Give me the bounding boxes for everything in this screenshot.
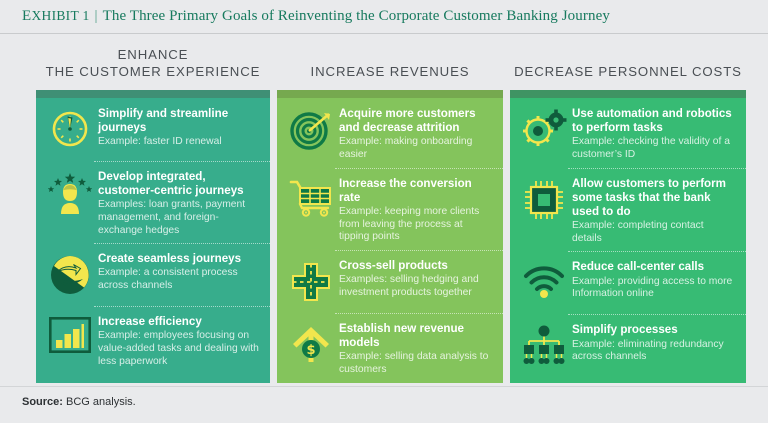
microchip-icon	[520, 176, 568, 225]
list-item-heading: Reduce call-center calls	[572, 260, 736, 274]
page-title-text: The Three Primary Goals of Reinventing t…	[103, 8, 610, 24]
list-item-example: Examples: selling hedging and investment…	[339, 274, 493, 299]
list-item-heading: Cross-sell products	[339, 259, 493, 273]
list-item-text: Allow customers to perform some tasks th…	[568, 176, 736, 246]
column-headers: ENHANCE THE CUSTOMER EXPERIENCE INCREASE…	[0, 44, 768, 88]
svg-text:$: $	[306, 343, 315, 358]
page-title: EXHIBIT 1|The Three Primary Goals of Rei…	[22, 8, 610, 25]
column-enhance-customer-experience: Simplify and streamline journeys Example…	[36, 90, 270, 383]
column-1-body: Simplify and streamline journeys Example…	[36, 98, 270, 374]
list-item-heading: Establish new revenue models	[339, 322, 493, 350]
list-item-heading: Allow customers to perform some tasks th…	[572, 177, 736, 220]
list-item[interactable]: Increase the conversion rate Example: ke…	[277, 168, 503, 250]
column-3-body: Use automation and robotics to perform t…	[510, 98, 746, 377]
clock-icon	[46, 106, 94, 155]
source-label: Source:	[22, 396, 63, 408]
list-item-heading: Acquire more customers and decrease attr…	[339, 107, 493, 135]
list-item-heading: Simplify and streamline journeys	[98, 107, 260, 135]
column-2-body: Acquire more customers and decrease attr…	[277, 98, 503, 382]
list-item-example: Example: selling data analysis to custom…	[339, 351, 493, 376]
list-item[interactable]: Allow customers to perform some tasks th…	[510, 168, 746, 252]
list-item[interactable]: Simplify and streamline journeys Example…	[36, 98, 270, 161]
list-item-heading: Increase the conversion rate	[339, 177, 493, 205]
item-separator	[568, 168, 746, 169]
list-item[interactable]: $ Establish new revenue models Example: …	[277, 313, 503, 383]
column-header-1: ENHANCE THE CUSTOMER EXPERIENCE	[36, 46, 270, 80]
title-separator: |	[90, 8, 103, 24]
list-item-heading: Use automation and robotics to perform t…	[572, 107, 736, 135]
column-3-top-bar	[510, 90, 746, 98]
list-item[interactable]: Develop integrated, customer-centric jou…	[36, 161, 270, 243]
list-item-example: Example: making onboarding easier	[339, 136, 493, 161]
list-item-example: Example: eliminating redundancy across c…	[572, 339, 736, 364]
column-header-2: INCREASE REVENUES	[277, 63, 503, 80]
person-stars-icon	[46, 169, 94, 218]
item-separator	[335, 250, 503, 251]
list-item-heading: Increase efficiency	[98, 315, 260, 329]
list-item-text: Acquire more customers and decrease attr…	[335, 106, 493, 162]
list-item-example: Example: completing contact details	[572, 220, 736, 245]
list-item[interactable]: Use automation and robotics to perform t…	[510, 98, 746, 168]
list-item[interactable]: Reduce call-center calls Example: provid…	[510, 251, 746, 314]
list-item-text: Establish new revenue models Example: se…	[335, 321, 493, 377]
list-item-example: Example: checking the validity of a cust…	[572, 136, 736, 161]
item-separator	[568, 251, 746, 252]
column-increase-revenues: Acquire more customers and decrease attr…	[277, 90, 503, 383]
list-item-heading: Develop integrated, customer-centric jou…	[98, 170, 260, 198]
wifi-signal-icon	[520, 259, 568, 308]
column-header-3: DECREASE PERSONNEL COSTS	[510, 63, 746, 80]
column-1-top-bar	[36, 90, 270, 98]
item-separator	[568, 314, 746, 315]
org-tree-icon	[520, 322, 568, 371]
footer-divider	[0, 386, 768, 387]
list-item-text: Increase efficiency Example: employees f…	[94, 314, 260, 368]
list-item[interactable]: Increase efficiency Example: employees f…	[36, 306, 270, 374]
column-2-top-bar	[277, 90, 503, 98]
list-item-text: Create seamless journeys Example: a cons…	[94, 251, 260, 292]
list-item[interactable]: Simplify processes Example: eliminating …	[510, 314, 746, 377]
column-decrease-personnel-costs: Use automation and robotics to perform t…	[510, 90, 746, 383]
list-item-text: Develop integrated, customer-centric jou…	[94, 169, 260, 237]
source-text: BCG analysis.	[66, 396, 136, 408]
list-item-text: Use automation and robotics to perform t…	[568, 106, 736, 162]
up-arrow-dollar-icon: $	[287, 321, 335, 370]
list-item-example: Example: a consistent process across cha…	[98, 267, 260, 292]
list-item-example: Example: providing access to more Inform…	[572, 276, 736, 301]
exhibit-label: EXHIBIT 1	[22, 8, 90, 23]
source-note: Source: BCG analysis.	[22, 396, 136, 408]
column-header-2-line2: INCREASE REVENUES	[277, 63, 503, 80]
list-item-example: Examples: loan grants, payment managemen…	[98, 199, 260, 237]
column-header-3-line2: DECREASE PERSONNEL COSTS	[510, 63, 746, 80]
list-item-text: Reduce call-center calls Example: provid…	[568, 259, 736, 300]
item-separator	[94, 306, 270, 307]
item-separator	[94, 161, 270, 162]
exhibit-title-bar: EXHIBIT 1|The Three Primary Goals of Rei…	[0, 0, 768, 34]
list-item-text: Increase the conversion rate Example: ke…	[335, 176, 493, 244]
list-item-example: Example: employees focusing on value-add…	[98, 330, 260, 368]
list-item[interactable]: Create seamless journeys Example: a cons…	[36, 243, 270, 306]
list-item-example: Example: faster ID renewal	[98, 136, 260, 149]
list-item[interactable]: Acquire more customers and decrease attr…	[277, 98, 503, 168]
list-item-heading: Create seamless journeys	[98, 252, 260, 266]
list-item-example: Example: keeping more clients from leavi…	[339, 206, 493, 244]
shopping-cart-icon	[287, 176, 335, 225]
list-item-text: Cross-sell products Examples: selling he…	[335, 258, 493, 299]
column-header-1-line2: THE CUSTOMER EXPERIENCE	[36, 63, 270, 80]
circular-arrows-globe-icon	[46, 251, 94, 300]
list-item-text: Simplify and streamline journeys Example…	[94, 106, 260, 149]
target-dart-icon	[287, 106, 335, 155]
list-item-text: Simplify processes Example: eliminating …	[568, 322, 736, 363]
item-separator	[335, 313, 503, 314]
bar-chart-icon	[46, 314, 94, 363]
gears-icon	[520, 106, 568, 155]
list-item[interactable]: Cross-sell products Examples: selling he…	[277, 250, 503, 313]
item-separator	[94, 243, 270, 244]
list-item-heading: Simplify processes	[572, 323, 736, 337]
column-header-1-line1: ENHANCE	[36, 46, 270, 63]
item-separator	[335, 168, 503, 169]
plus-crossroads-icon	[287, 258, 335, 307]
